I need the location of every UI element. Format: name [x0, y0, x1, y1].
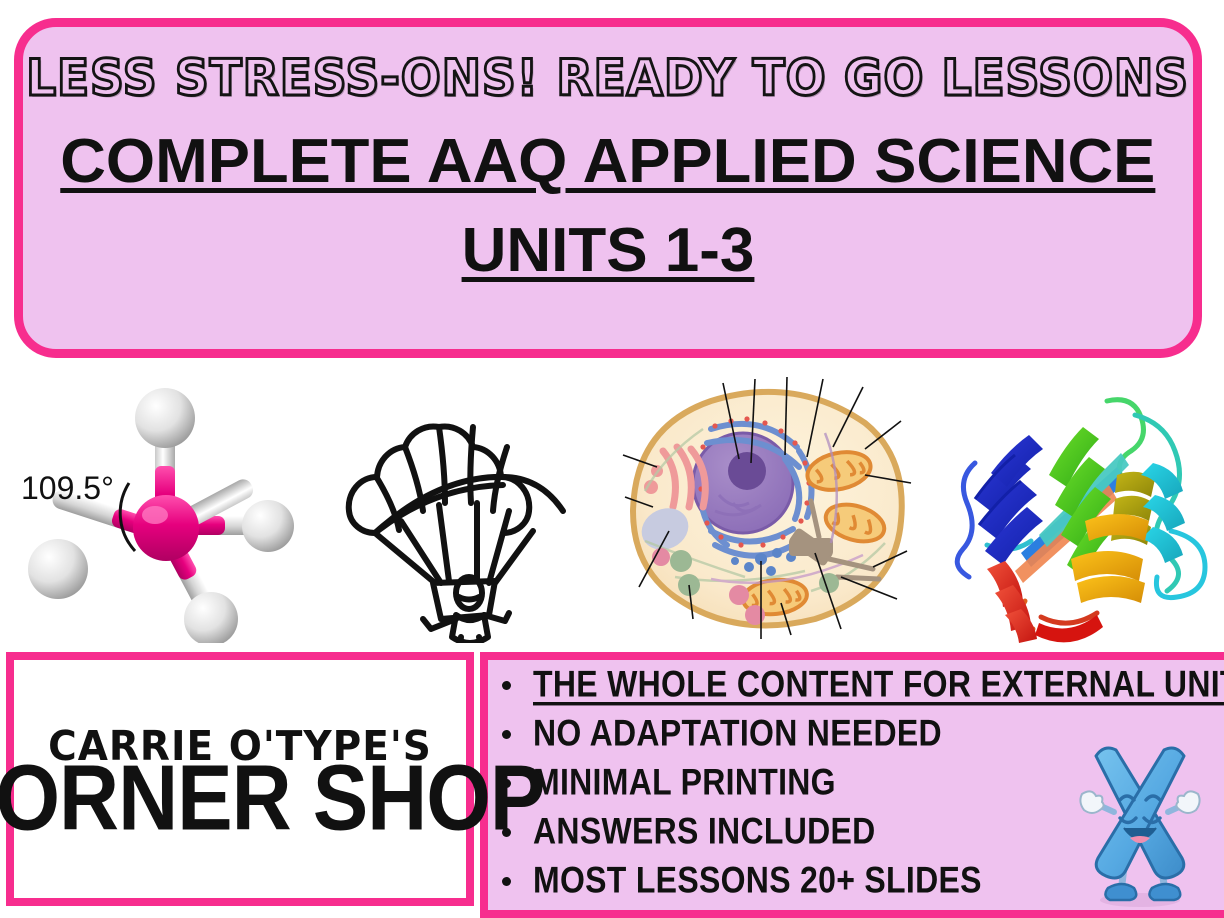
list-item-label: MINIMAL PRINTING: [533, 763, 836, 800]
list-item-label: ANSWERS INCLUDED: [533, 812, 876, 849]
tagline: LESS STRESS-ONS! READY TO GO LESSONS: [27, 53, 1190, 103]
protein-ribbon-icon: [921, 371, 1221, 643]
letter-x-character-icon: [1074, 738, 1206, 910]
parachute-icon: [309, 371, 609, 643]
bullet-dot-icon: [502, 730, 511, 739]
list-item-label: MOST LESSONS 20+ SLIDES: [533, 861, 982, 898]
header-banner: LESS STRESS-ONS! READY TO GO LESSONS COM…: [14, 18, 1202, 358]
image-strip: 109.5°: [0, 368, 1224, 646]
page-title: COMPLETE AAQ APPLIED SCIENCE: [60, 129, 1155, 196]
features-panel: THE WHOLE CONTENT FOR EXTERNAL UNITS NO …: [480, 652, 1224, 918]
bullet-dot-icon: [502, 877, 511, 886]
page-subtitle: UNITS 1-3: [462, 218, 755, 285]
image-tetrahedral-molecule: 109.5°: [3, 371, 303, 643]
list-item: THE WHOLE CONTENT FOR EXTERNAL UNITS: [502, 670, 1224, 702]
image-parachute: [309, 371, 609, 643]
list-item-label: THE WHOLE CONTENT FOR EXTERNAL UNITS: [533, 665, 1224, 702]
list-item-label: NO ADAPTATION NEEDED: [533, 714, 942, 751]
brand-logo-panel: CARRIE O'TYPE'S CORNER SHOP: [6, 652, 474, 906]
image-animal-cell: [615, 371, 915, 643]
bullet-dot-icon: [502, 681, 511, 690]
image-protein-structure: [921, 371, 1221, 643]
animal-cell-icon: [615, 371, 915, 643]
brand-name-line1: CARRIE O'TYPE'S: [48, 722, 432, 770]
cover-page: LESS STRESS-ONS! READY TO GO LESSONS COM…: [0, 0, 1224, 918]
bond-angle-label: 109.5°: [21, 470, 114, 506]
tetrahedral-molecule-icon: 109.5°: [3, 371, 303, 643]
